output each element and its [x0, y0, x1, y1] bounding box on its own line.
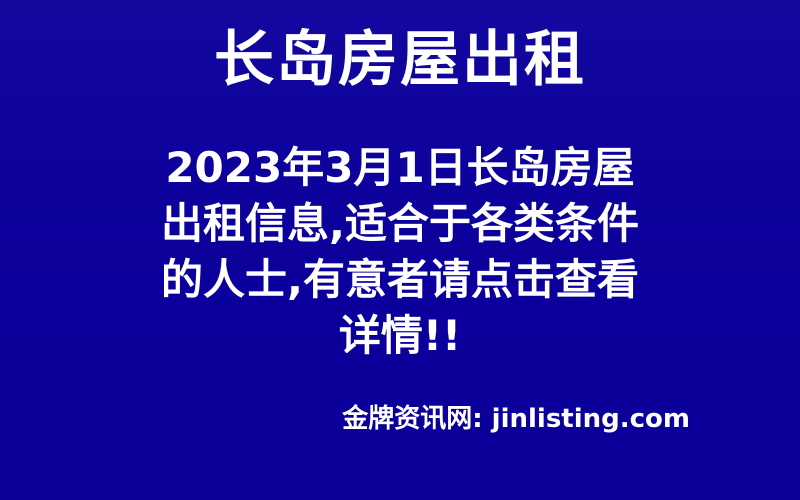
footer-attribution: 金牌资讯网: jinlisting.com [0, 402, 800, 436]
body-line-1: 2023年3月1日长岛房屋 [95, 140, 705, 196]
body-line-3: 的人士,有意者请点击查看 [95, 252, 705, 308]
poster-body-text: 2023年3月1日长岛房屋 出租信息,适合于各类条件 的人士,有意者请点击查看 … [0, 140, 800, 364]
page-title: 长岛房屋出租 [0, 24, 800, 96]
rental-listing-poster: 长岛房屋出租 2023年3月1日长岛房屋 出租信息,适合于各类条件 的人士,有意… [0, 0, 800, 500]
footer-site-label: 金牌资讯网: [342, 404, 482, 434]
footer-site-url[interactable]: jinlisting.com [492, 404, 690, 434]
body-line-4: 详情!! [95, 308, 705, 364]
body-line-2: 出租信息,适合于各类条件 [95, 196, 705, 252]
